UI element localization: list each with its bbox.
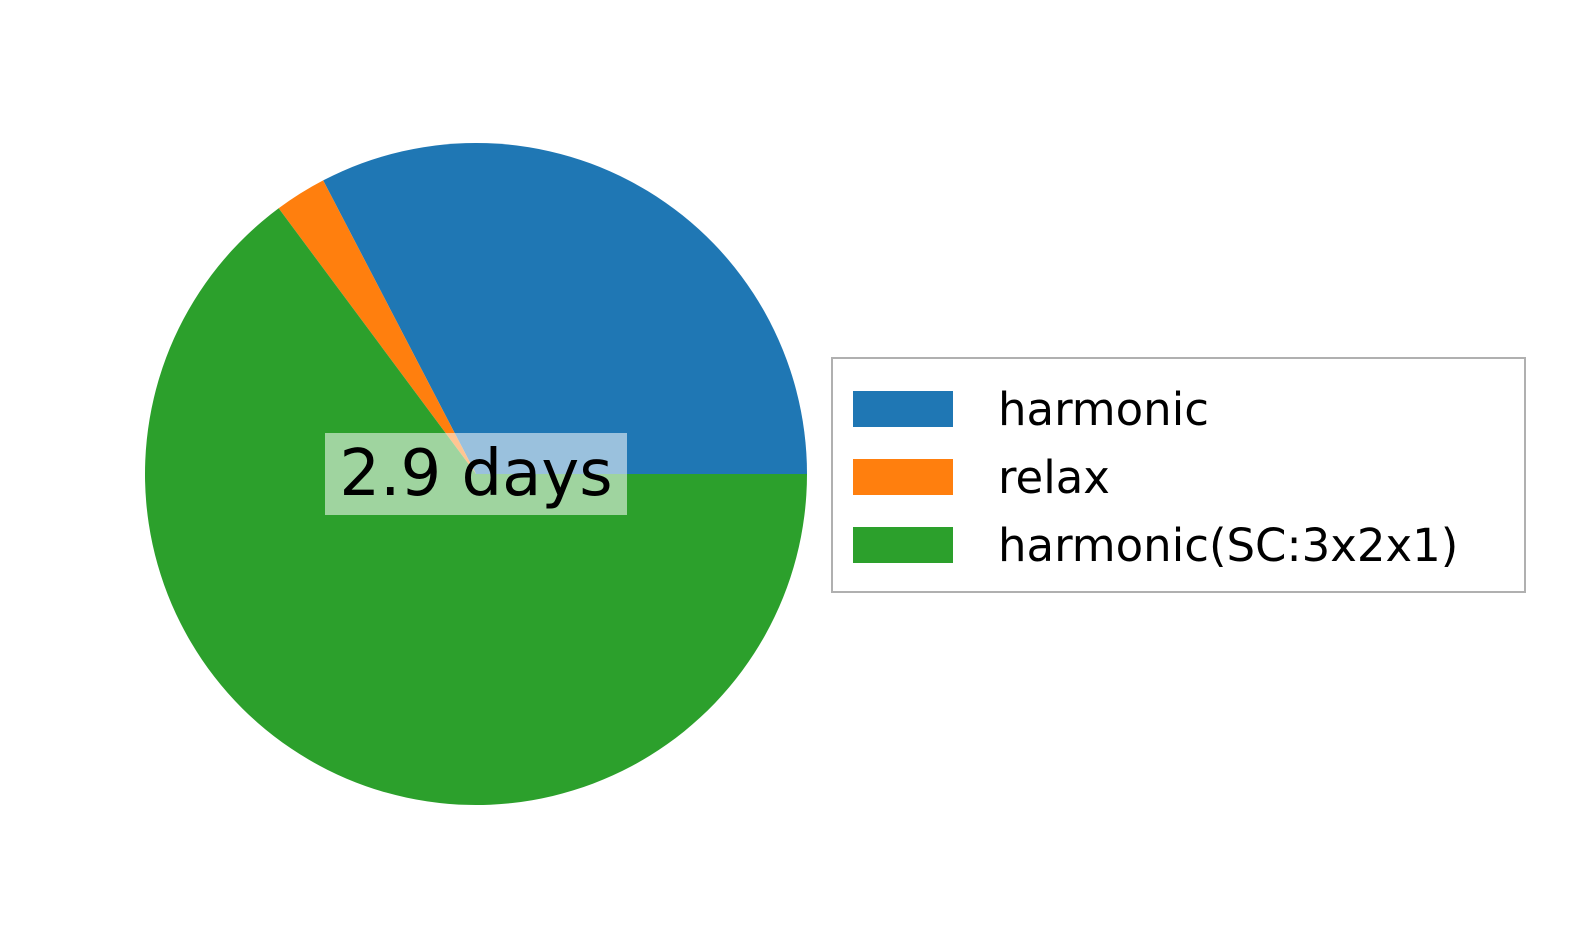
legend-label-relax: relax bbox=[998, 455, 1110, 500]
legend-item-harmonic-sc[interactable]: harmonic(SC:3x2x1) bbox=[853, 511, 1506, 579]
chart-legend: harmonic relax harmonic(SC:3x2x1) bbox=[831, 357, 1526, 593]
center-label-text: 2.9 days bbox=[339, 442, 612, 506]
pie-chart-figure: 2.9 days harmonic relax harmonic(SC:3x2x… bbox=[0, 0, 1584, 951]
legend-label-harmonic: harmonic bbox=[998, 387, 1209, 432]
legend-label-harmonic-sc: harmonic(SC:3x2x1) bbox=[998, 523, 1458, 568]
center-label-box: 2.9 days bbox=[325, 433, 627, 515]
legend-item-relax[interactable]: relax bbox=[853, 443, 1506, 511]
legend-swatch-relax bbox=[853, 459, 953, 495]
legend-swatch-harmonic-sc bbox=[853, 527, 953, 563]
legend-item-harmonic[interactable]: harmonic bbox=[853, 375, 1506, 443]
legend-swatch-harmonic bbox=[853, 391, 953, 427]
